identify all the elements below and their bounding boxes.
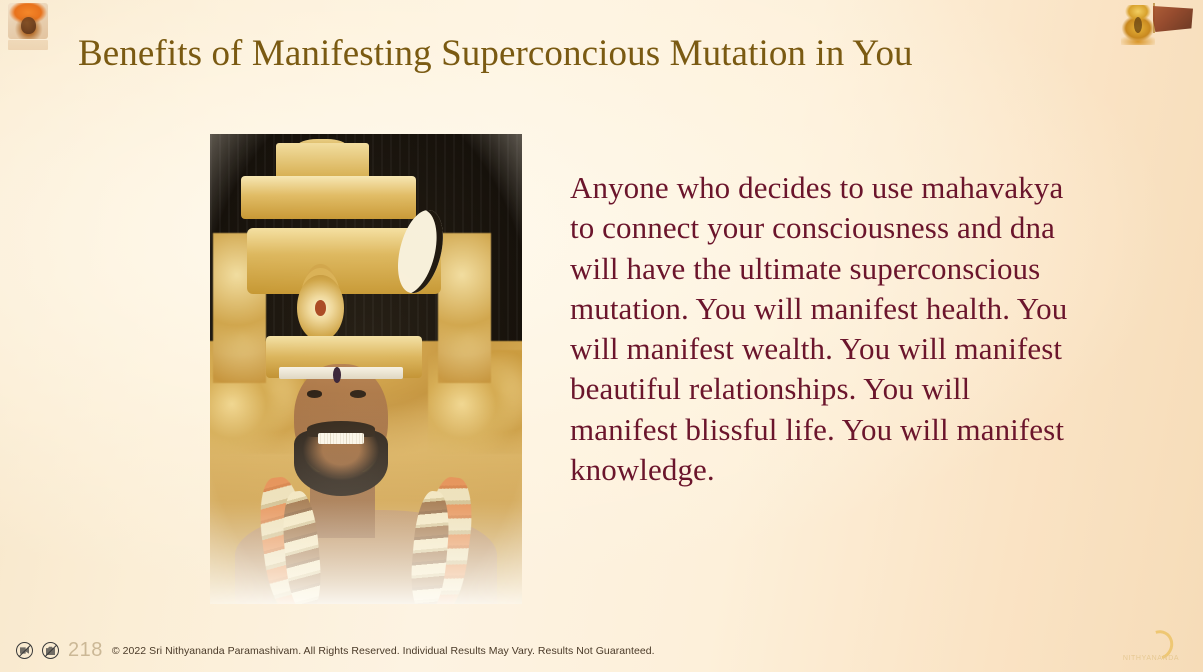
page-number: 218 — [68, 639, 103, 662]
body-paragraph: Anyone who decides to use mahavakya to c… — [570, 168, 1070, 490]
camera-glyph — [46, 646, 56, 656]
guru-portrait-image — [8, 3, 48, 39]
guru-portrait-caption — [8, 40, 48, 50]
slide-canvas: Benefits of Manifesting Superconcious Mu… — [0, 0, 1203, 672]
watermark-swirl-icon — [1140, 625, 1179, 665]
footer: 218 © 2022 Sri Nithyananda Paramashivam.… — [16, 639, 655, 662]
copyright-notice: © 2022 Sri Nithyananda Paramashivam. All… — [112, 645, 655, 657]
figure-smile — [318, 433, 365, 444]
figure-eye-left — [307, 390, 323, 398]
crown-medallion — [297, 275, 344, 341]
deity-icon — [1121, 5, 1155, 45]
page-title: Benefits of Manifesting Superconcious Mu… — [78, 33, 1088, 74]
forehead-stripe — [279, 367, 404, 379]
guru-portrait-logo — [2, 2, 54, 52]
portrait-photo-frame — [210, 134, 522, 604]
no-video-recording-icon — [16, 642, 33, 659]
nithyananda-watermark-logo: NITHYANANDA — [1109, 630, 1193, 664]
flag-icon — [1153, 6, 1193, 32]
video-camera-glyph — [20, 646, 30, 656]
portrait-photo — [210, 134, 522, 604]
flag-pole-icon — [1153, 3, 1155, 33]
figure-eye-right — [350, 390, 366, 398]
crown-band — [241, 176, 416, 218]
watermark-wordmark: NITHYANANDA — [1109, 655, 1193, 662]
crown-wing-right — [438, 233, 491, 383]
no-photography-icon — [42, 642, 59, 659]
deity-emblem-logo — [1117, 2, 1195, 48]
